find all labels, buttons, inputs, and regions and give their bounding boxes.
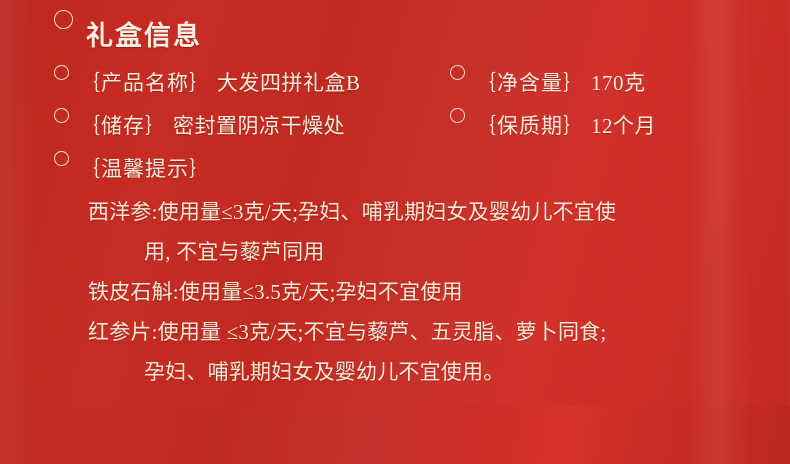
tips-paragraph-block: 西洋参:使用量≤3克/天;孕妇、哺乳期妇女及婴幼儿不宜使 用, 不宜与藜芦同用 …: [88, 192, 778, 392]
info-label: ｛产品名称｝: [79, 67, 211, 97]
info-value: 大发四拼礼盒B: [217, 67, 361, 97]
info-row: ｛储存｝ 密封置阴凉干燥处 ｛保质期｝ 12个月: [54, 110, 656, 140]
tip-line: 红参片:使用量 ≤3克/天;不宜与藜芦、五灵脂、萝卜同食;: [88, 312, 778, 352]
info-label: ｛温馨提示｝: [79, 153, 211, 183]
product-info-banner: 礼盒信息 ｛产品名称｝ 大发四拼礼盒B ｛净含量｝ 170克 ｛储存｝ 密封置阴…: [0, 0, 790, 464]
tip-line: 铁皮石斛:使用量≤3.5克/天;孕妇不宜使用: [88, 272, 778, 312]
page-title: 礼盒信息: [54, 14, 202, 53]
info-label: ｛净含量｝: [475, 67, 585, 97]
info-value: 170克: [591, 67, 646, 97]
tip-line: 孕妇、哺乳期妇女及婴幼儿不宜使用。: [88, 352, 778, 392]
circle-outline-icon: [450, 65, 465, 80]
info-value: 密封置阴凉干燥处: [173, 110, 345, 140]
circle-outline-icon: [54, 10, 73, 29]
info-content: 礼盒信息 ｛产品名称｝ 大发四拼礼盒B ｛净含量｝ 170克 ｛储存｝ 密封置阴…: [0, 0, 790, 464]
info-field-product-name: ｛产品名称｝ 大发四拼礼盒B: [54, 67, 450, 97]
circle-outline-icon: [450, 108, 465, 123]
info-field-net-content: ｛净含量｝ 170克: [450, 67, 646, 97]
page-title-text: 礼盒信息: [86, 14, 202, 53]
circle-outline-icon: [54, 108, 69, 123]
info-field-shelf-life: ｛保质期｝ 12个月: [450, 110, 656, 140]
tip-line: 西洋参:使用量≤3克/天;孕妇、哺乳期妇女及婴幼儿不宜使: [88, 192, 778, 232]
tip-line: 用, 不宜与藜芦同用: [88, 232, 778, 272]
circle-outline-icon: [54, 65, 69, 80]
info-label: ｛储存｝: [79, 110, 167, 140]
info-field-storage: ｛储存｝ 密封置阴凉干燥处: [54, 110, 450, 140]
circle-outline-icon: [54, 151, 69, 166]
info-label: ｛保质期｝: [475, 110, 585, 140]
info-value: 12个月: [591, 110, 656, 140]
info-row: ｛产品名称｝ 大发四拼礼盒B ｛净含量｝ 170克: [54, 67, 646, 97]
info-field-tips-heading: ｛温馨提示｝: [54, 153, 211, 183]
